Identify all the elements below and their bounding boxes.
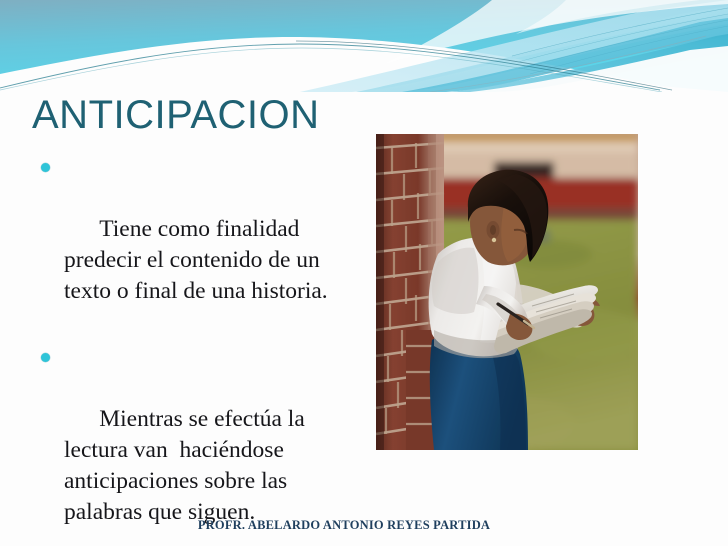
decorative-wave-banner (0, 0, 728, 92)
presentation-slide: ANTICIPACION Tiene como finalidad predec… (0, 0, 728, 546)
bullet-text: Tiene como finalidad predecir el conteni… (64, 216, 328, 304)
slide-footer: PROFR. ABELARDO ANTONIO REYES PARTIDA (0, 517, 688, 533)
bullet-dot-icon (41, 163, 50, 172)
list-item: Tiene como finalidad predecir el conteni… (34, 152, 364, 338)
student-writing-notebook-photo (376, 134, 638, 450)
bullet-list: Tiene como finalidad predecir el conteni… (34, 152, 364, 546)
slide-title: ANTICIPACION (32, 92, 392, 138)
list-item: Mientras se efectúa la lectura van hacié… (34, 342, 364, 546)
bullet-text: Mientras se efectúa la lectura van hacié… (64, 406, 311, 525)
bullet-dot-icon (41, 353, 50, 362)
